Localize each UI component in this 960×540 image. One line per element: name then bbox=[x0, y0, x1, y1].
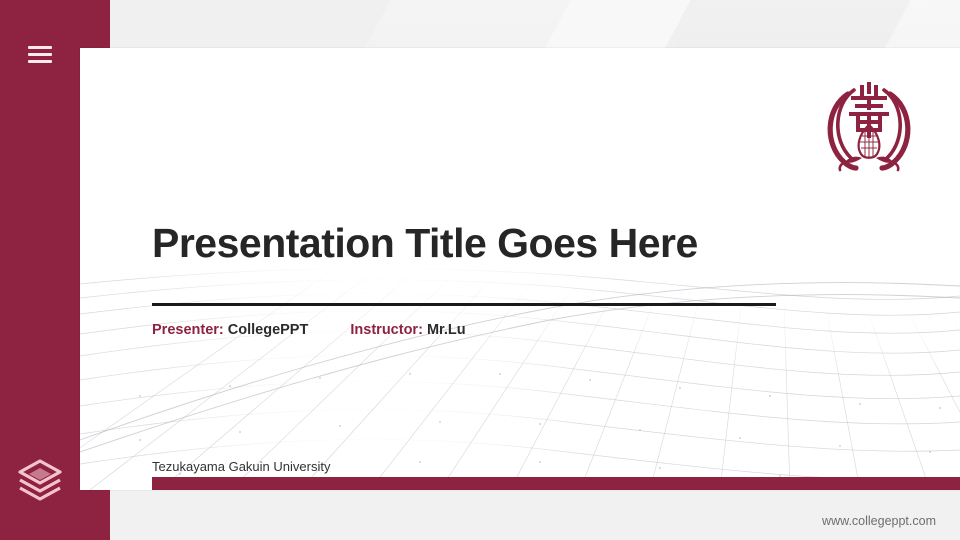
presentation-slide-viewer: Presentation Title Goes Here Presenter: … bbox=[0, 0, 960, 540]
title-divider bbox=[152, 303, 776, 306]
page-title: Presentation Title Goes Here bbox=[152, 220, 698, 267]
presentation-credits: Presenter: CollegePPT Instructor: Mr.Lu bbox=[152, 322, 466, 338]
menu-bar bbox=[28, 46, 52, 49]
university-name: Tezukayama Gakuin University bbox=[152, 459, 330, 474]
instructor-value: Mr.Lu bbox=[427, 322, 466, 338]
presenter-value: CollegePPT bbox=[228, 322, 309, 338]
layers-stack-icon[interactable] bbox=[16, 456, 64, 504]
slide-bottom-accent-bar bbox=[152, 477, 960, 490]
menu-bar bbox=[28, 53, 52, 56]
footer-url: www.collegeppt.com bbox=[822, 514, 936, 528]
menu-bar bbox=[28, 60, 52, 63]
presenter-label: Presenter: bbox=[152, 322, 224, 338]
slide-canvas: Presentation Title Goes Here Presenter: … bbox=[80, 48, 960, 490]
backdrop-footer-strip bbox=[0, 484, 960, 540]
university-crest-icon bbox=[818, 78, 920, 178]
hamburger-menu-icon[interactable] bbox=[28, 46, 52, 64]
instructor-label: Instructor: bbox=[350, 322, 423, 338]
